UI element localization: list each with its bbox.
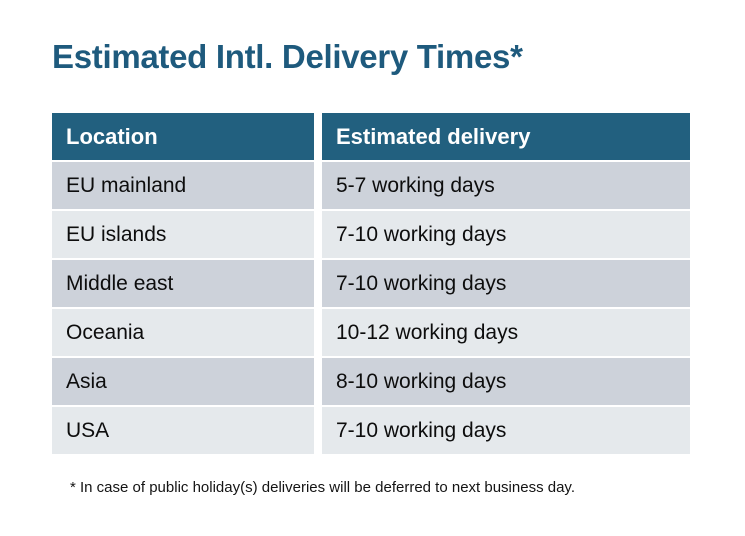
- cell-delivery: 7-10 working days: [322, 211, 690, 258]
- cell-location: Middle east: [52, 260, 314, 307]
- table-header-row: Location Estimated delivery: [52, 113, 690, 160]
- cell-delivery: 7-10 working days: [322, 260, 690, 307]
- column-divider: [314, 162, 322, 209]
- column-divider: [314, 211, 322, 258]
- cell-location: Asia: [52, 358, 314, 405]
- table-row: USA 7-10 working days: [52, 407, 690, 454]
- footnote-text: * In case of public holiday(s) deliverie…: [70, 479, 575, 496]
- column-divider: [314, 260, 322, 307]
- cell-delivery: 5-7 working days: [322, 162, 690, 209]
- column-header-location: Location: [52, 113, 314, 160]
- page-title: Estimated Intl. Delivery Times*: [52, 38, 523, 76]
- column-divider: [314, 113, 322, 160]
- cell-location: USA: [52, 407, 314, 454]
- cell-delivery: 7-10 working days: [322, 407, 690, 454]
- cell-location: EU mainland: [52, 162, 314, 209]
- table-row: Middle east 7-10 working days: [52, 260, 690, 307]
- table-row: EU islands 7-10 working days: [52, 211, 690, 258]
- table-row: Oceania 10-12 working days: [52, 309, 690, 356]
- cell-location: EU islands: [52, 211, 314, 258]
- column-divider: [314, 407, 322, 454]
- cell-delivery: 8-10 working days: [322, 358, 690, 405]
- table-row: EU mainland 5-7 working days: [52, 162, 690, 209]
- column-header-estimated-delivery: Estimated delivery: [322, 113, 690, 160]
- table-row: Asia 8-10 working days: [52, 358, 690, 405]
- cell-location: Oceania: [52, 309, 314, 356]
- cell-delivery: 10-12 working days: [322, 309, 690, 356]
- column-divider: [314, 358, 322, 405]
- column-divider: [314, 309, 322, 356]
- delivery-times-page: Estimated Intl. Delivery Times* Location…: [0, 0, 745, 536]
- delivery-times-table: Location Estimated delivery EU mainland …: [52, 113, 690, 454]
